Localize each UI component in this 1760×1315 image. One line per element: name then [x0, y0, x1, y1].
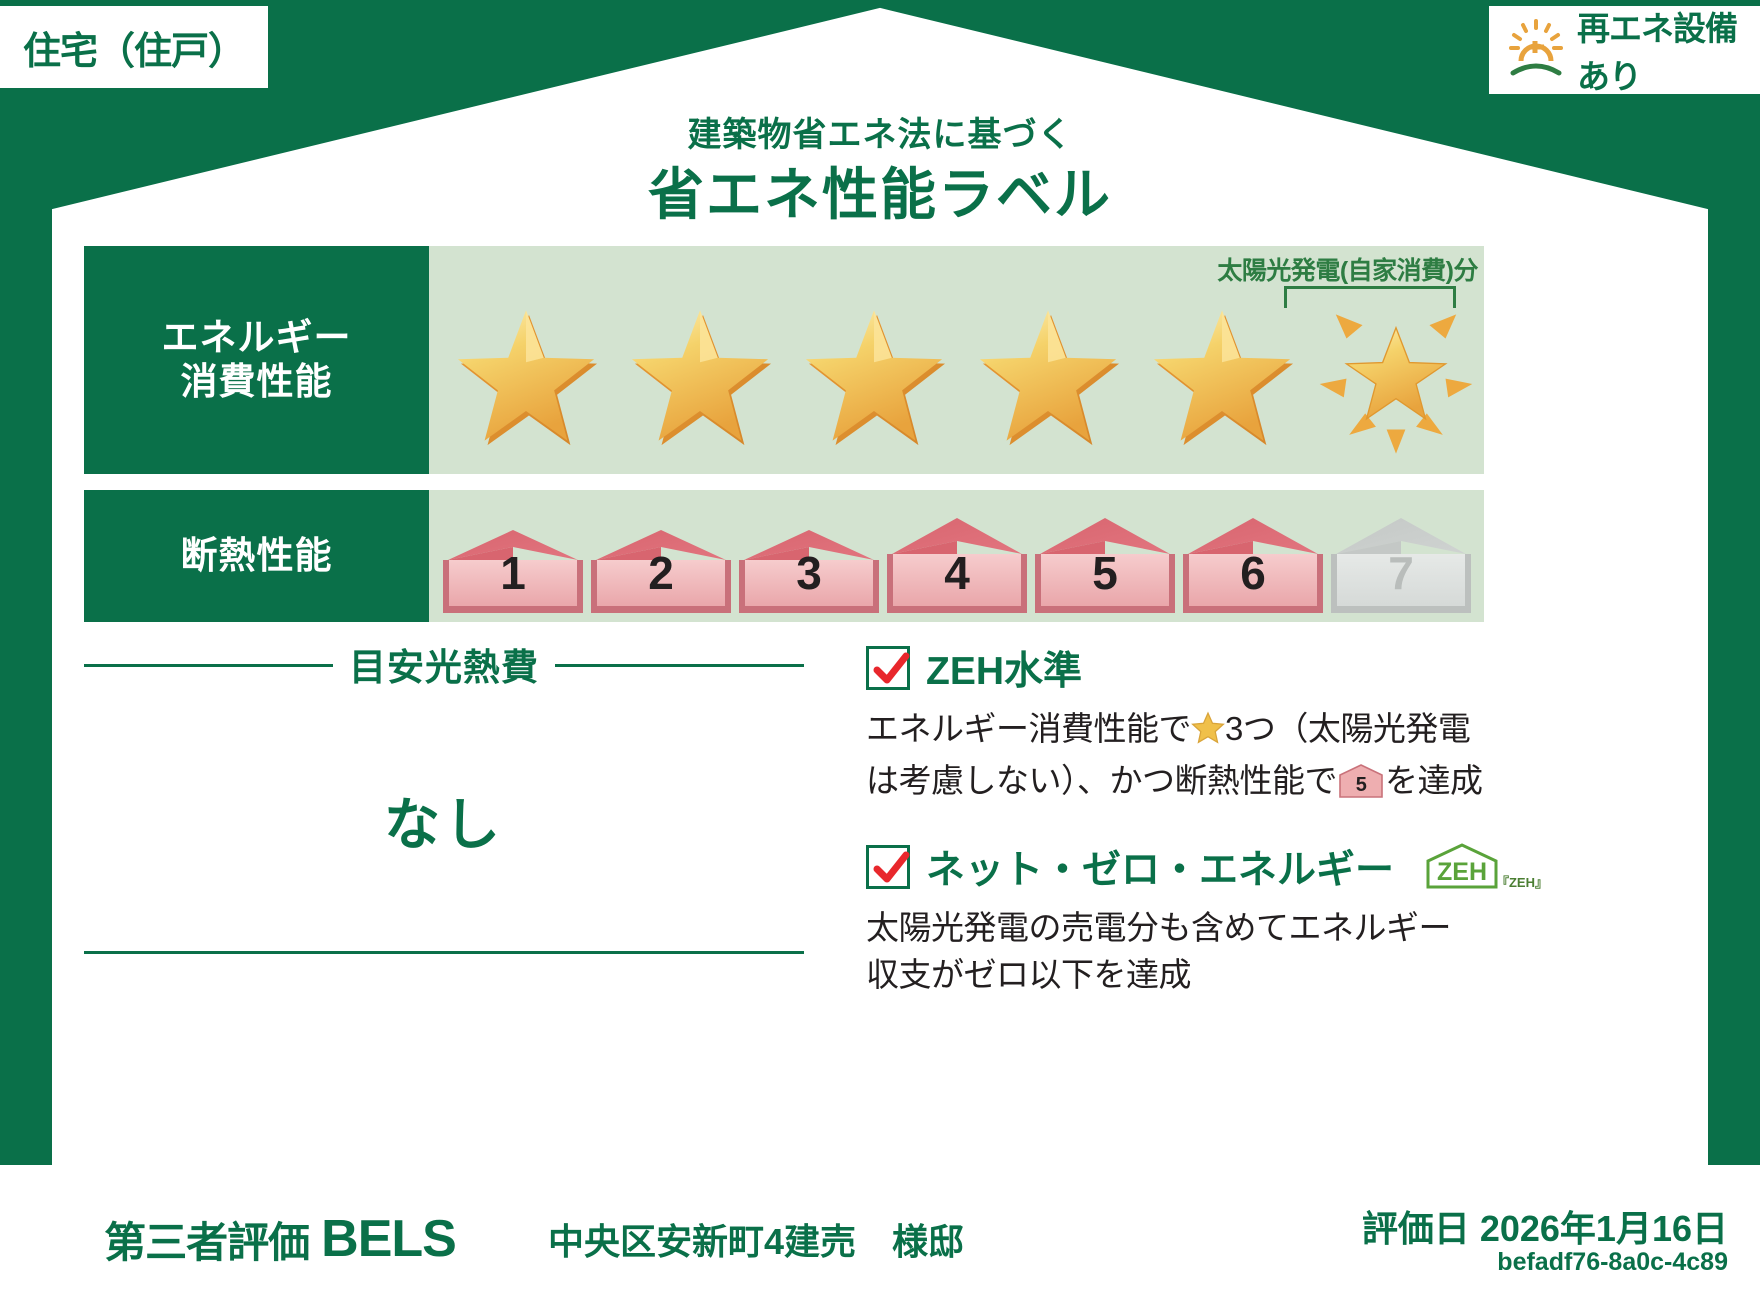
star-icon-filled [1135, 303, 1309, 451]
insulation-level-3: 3 [735, 526, 883, 614]
claim-zeh-level-body: エネルギー消費性能で3つ（太陽光発電 は考慮しない）、かつ断熱性能で5を達成 [866, 706, 1486, 805]
renewable-equipment-label: 再エネ設備あり [1577, 2, 1760, 98]
inline-star-icon [1191, 711, 1225, 758]
insulation-performance-body: 1 2 [429, 490, 1484, 622]
utility-cost-bottom-divider [84, 951, 804, 954]
utility-cost-heading-text: 目安光熱費 [333, 637, 555, 691]
insulation-badge-5-icon: 5 [1339, 764, 1383, 796]
insulation-level-scale: 1 2 [439, 498, 1484, 614]
renewable-equipment-badge: 再エネ設備あり [1489, 6, 1760, 94]
energy-performance-label: エネルギー 消費性能 [84, 246, 429, 474]
claim-zeh-level-title: ZEH水準 [926, 640, 1082, 696]
insulation-level-1: 1 [439, 526, 587, 614]
star-icon-filled [439, 303, 613, 451]
zeh-logo-icon: ZEH 『ZEH』 [1422, 841, 1542, 893]
checkbox-checked-icon[interactable] [866, 845, 910, 889]
insulation-house-icon: 4 [886, 514, 1028, 614]
insulation-level-4: 4 [883, 514, 1031, 614]
insulation-level-number: 3 [738, 546, 880, 600]
evaluation-date-value: 2026年1月16日 [1480, 1208, 1728, 1249]
star-icon-filled [787, 303, 961, 451]
insulation-house-icon: 7 [1330, 514, 1472, 614]
label-subtitle: 建築物省エネ法に基づく [0, 107, 1760, 156]
utility-cost-heading: 目安光熱費 [84, 640, 804, 688]
insulation-house-icon: 1 [442, 526, 584, 614]
insulation-house-icon: 3 [738, 526, 880, 614]
evaluation-id: befadf76-8a0c-4c89 [1497, 1248, 1728, 1277]
star-icon-solar [1309, 287, 1483, 468]
solar-sun-icon [1505, 17, 1567, 84]
claim-zeh-level-header: ZEH水準 [866, 640, 1486, 696]
bels-jp-label: 第三者評価 [104, 1209, 309, 1270]
claim-net-zero-title: ネット・ゼロ・エネルギー [926, 839, 1394, 895]
insulation-level-5: 5 [1031, 514, 1179, 614]
insulation-level-6: 6 [1179, 514, 1327, 614]
evaluation-date: 評価日 2026年1月16日 [1362, 1200, 1728, 1252]
svg-text:ZEH: ZEH [1437, 858, 1487, 886]
insulation-performance-label: 断熱性能 [84, 490, 429, 622]
star-icon-filled [961, 303, 1135, 451]
insulation-level-number: 1 [442, 546, 584, 600]
bels-en-label: BELS [321, 1209, 456, 1269]
building-type-badge: 住宅（住戸） [0, 6, 268, 88]
evaluation-date-label: 評価日 [1362, 1208, 1470, 1249]
insulation-level-7: 7 [1327, 514, 1475, 614]
building-type-label: 住宅（住戸） [23, 20, 245, 75]
energy-performance-body: 太陽光発電(自家消費)分 [429, 246, 1484, 474]
star-icon-filled [613, 303, 787, 451]
bels-energy-label: 住宅（住戸） 再エネ設備あり 建築物省エネ法に基づく 省エ [0, 0, 1760, 1315]
property-address: 中央区安新町4建売 様邸 [548, 1213, 964, 1265]
insulation-level-number: 6 [1182, 546, 1324, 600]
claim-net-zero-energy: ネット・ゼロ・エネルギー ZEH 『ZEH』 太陽光発電の売電分も含めてエネルギ… [866, 839, 1486, 999]
claim-net-zero-body: 太陽光発電の売電分も含めてエネルギー 収支がゼロ以下を達成 [866, 905, 1486, 999]
energy-performance-row: エネルギー 消費性能 太陽光発電(自家消費)分 [84, 246, 1484, 474]
svg-text:『ZEH』: 『ZEH』 [1496, 875, 1542, 890]
insulation-house-icon: 5 [1034, 514, 1176, 614]
claims-spacer [866, 805, 1486, 839]
insulation-level-number: 4 [886, 546, 1028, 600]
label-title: 省エネ性能ラベル [0, 150, 1760, 231]
utility-cost-value: なし [84, 780, 804, 861]
insulation-level-2: 2 [587, 526, 735, 614]
utility-cost-panel: 目安光熱費 なし [84, 640, 804, 970]
checkbox-checked-icon[interactable] [866, 646, 910, 690]
insulation-house-icon: 2 [590, 526, 732, 614]
insulation-performance-row: 断熱性能 1 [84, 490, 1484, 622]
star-rating [439, 302, 1484, 452]
insulation-house-icon: 6 [1182, 514, 1324, 614]
solar-annotation-text: 太陽光発電(自家消費)分 [1217, 251, 1478, 287]
bels-certification-badge: 第三者評価 BELS [30, 1196, 530, 1282]
claim-zeh-level: ZEH水準 エネルギー消費性能で3つ（太陽光発電 は考慮しない）、かつ断熱性能で… [866, 640, 1486, 805]
insulation-level-number: 2 [590, 546, 732, 600]
certification-claims: ZEH水準 エネルギー消費性能で3つ（太陽光発電 は考慮しない）、かつ断熱性能で… [866, 640, 1486, 998]
insulation-level-number: 5 [1034, 546, 1176, 600]
claim-net-zero-header: ネット・ゼロ・エネルギー ZEH 『ZEH』 [866, 839, 1486, 895]
svg-text:5: 5 [1356, 774, 1367, 796]
insulation-level-number: 7 [1330, 546, 1472, 600]
